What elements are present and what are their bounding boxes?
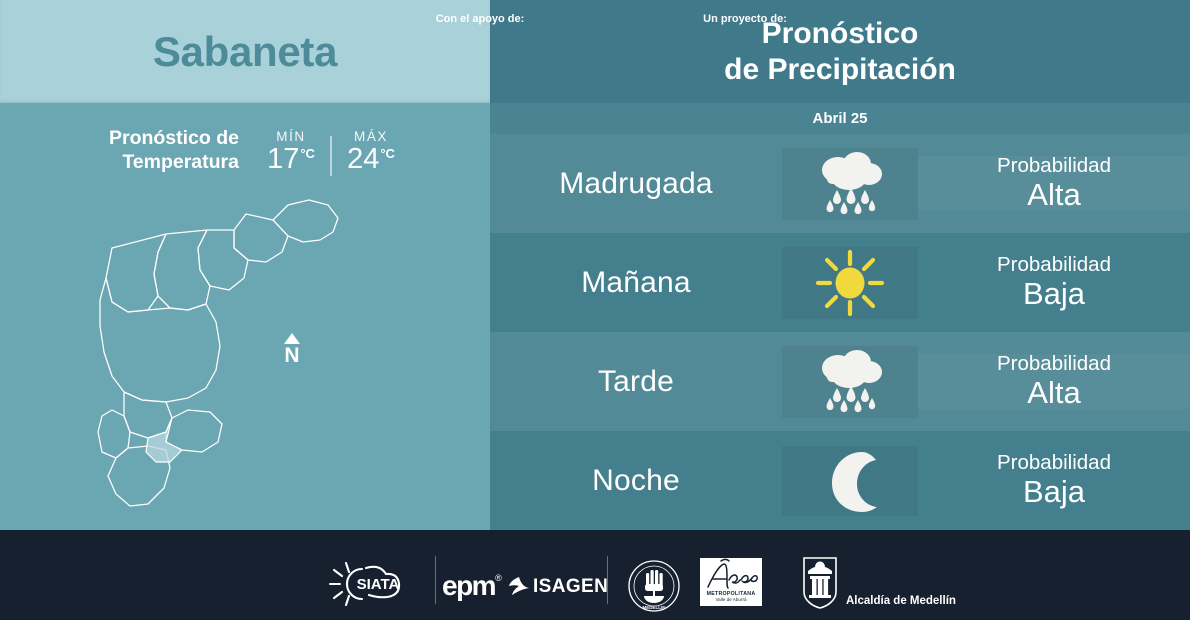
forecast-date: Abril 25 [812, 110, 867, 127]
forecast-period-label: Mañana [490, 266, 782, 300]
forecast-probability-cell: Probabilidad Alta [918, 156, 1190, 211]
precipitation-title-line2: de Precipitación [724, 52, 956, 87]
area-logo-sub2: Valle de Aburrá [700, 597, 762, 602]
epm-registered-mark: ® [495, 573, 502, 583]
valle-de-aburra-map [20, 170, 470, 520]
forecast-probability-cell: Probabilidad Baja [918, 255, 1190, 310]
universidad-seal-text: MEDELLIN [643, 605, 666, 610]
probability-label: Probabilidad [918, 156, 1190, 177]
probability-value: Baja [918, 278, 1190, 310]
project-caption: Un proyecto de: [640, 13, 850, 25]
forecast-row: Tarde [490, 332, 1190, 431]
map-svg [20, 170, 470, 520]
isagen-logo-text: ISAGEN [533, 577, 608, 596]
weather-forecast-infographic: Sabaneta Pronóstico de Temperatura MÍN 1… [0, 0, 1190, 620]
probability-value: Alta [918, 377, 1190, 409]
siata-logo-icon: SIATA [328, 560, 428, 608]
footer-divider [435, 556, 436, 604]
epm-logo: epm® [442, 572, 502, 600]
map-highlight-sabaneta [146, 418, 182, 462]
temperature-title-line1: Pronóstico de [70, 127, 239, 151]
forecast-period-label: Noche [490, 464, 782, 498]
area-signature-icon [700, 558, 762, 591]
temperature-panel: Sabaneta Pronóstico de Temperatura MÍN 1… [0, 0, 490, 530]
forecast-probability-cell: Probabilidad Alta [918, 354, 1190, 409]
temperature-max-label: MÁX [332, 129, 410, 144]
temperature-max: MÁX 24°C [332, 129, 410, 174]
compass-north-indicator: N [277, 333, 307, 366]
temperature-max-unit: °C [380, 146, 395, 161]
forecast-icon-cell [782, 148, 918, 220]
probability-label: Probabilidad [918, 354, 1190, 375]
probability-label: Probabilidad [918, 255, 1190, 276]
forecast-icon-cell [782, 446, 918, 516]
isagen-logo: ISAGEN [508, 576, 608, 596]
temperature-min-label: MÍN [252, 129, 330, 144]
rain-cloud-icon [811, 346, 889, 418]
compass-label: N [277, 345, 307, 366]
area-metropolitana-logo: METROPOLITANA Valle de Aburrá [700, 558, 762, 606]
forecast-date-band: Abril 25 [490, 103, 1190, 134]
forecast-row: Noche Probabilidad Baja [490, 431, 1190, 530]
epm-logo-text: epm [442, 570, 495, 601]
universidad-seal-icon: MEDELLIN [623, 558, 685, 614]
rain-cloud-icon [811, 148, 889, 220]
isagen-logo-icon [508, 576, 530, 596]
moon-icon [818, 446, 882, 516]
forecast-period-label: Madrugada [490, 167, 782, 201]
siata-logo-text: SIATA [357, 576, 400, 593]
forecast-icon-cell [782, 247, 918, 319]
temperature-title: Pronóstico de Temperatura [70, 127, 252, 175]
alcaldia-crest-icon [800, 556, 840, 610]
forecast-row: Mañana [490, 233, 1190, 332]
sun-icon [813, 247, 887, 319]
footer-bar [0, 530, 1190, 620]
alcaldia-de-medellin-logo: Alcaldía de Medellín [800, 556, 956, 610]
forecast-icon-cell [782, 346, 918, 418]
universidad-de-medellin-logo: MEDELLIN [623, 558, 685, 614]
north-arrow-icon [284, 333, 300, 344]
forecast-period-label: Tarde [490, 365, 782, 399]
area-logo-box: METROPOLITANA Valle de Aburrá [700, 558, 762, 606]
temperature-min-unit: °C [300, 146, 315, 161]
forecast-probability-cell: Probabilidad Baja [918, 453, 1190, 508]
probability-value: Alta [918, 179, 1190, 211]
support-caption: Con el apoyo de: [370, 13, 590, 25]
forecast-rows: Madrugada [490, 134, 1190, 530]
temperature-min: MÍN 17°C [252, 129, 330, 174]
precipitation-panel: Pronóstico de Precipitación Abril 25 Mad… [490, 0, 1190, 530]
probability-value: Baja [918, 476, 1190, 508]
forecast-row: Madrugada [490, 134, 1190, 233]
siata-logo: SIATA [328, 560, 428, 608]
probability-label: Probabilidad [918, 453, 1190, 474]
alcaldia-logo-text: Alcaldía de Medellín [846, 595, 956, 607]
